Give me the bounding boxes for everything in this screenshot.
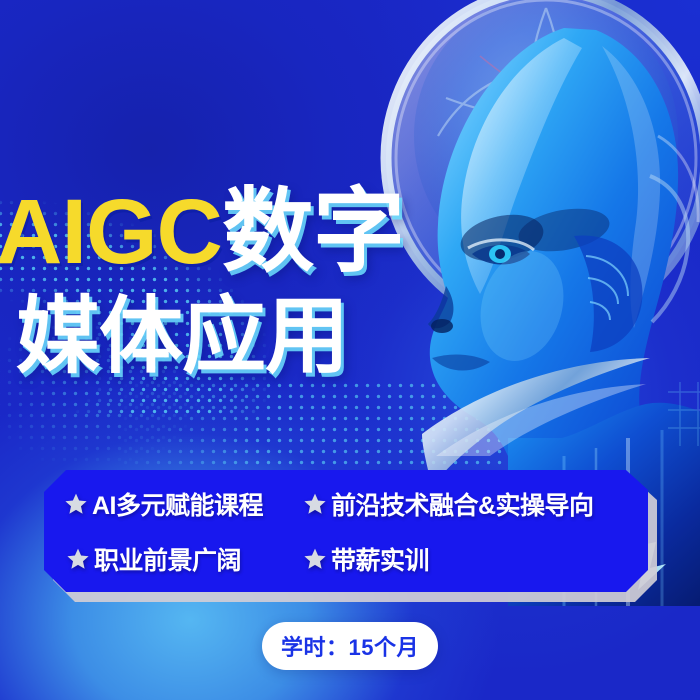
- duration-badge-label: 学时：15个月: [281, 630, 419, 662]
- poster-canvas: AIGC数字 媒体应用 AI多元赋能课程 前沿技术融合&实操导向: [0, 0, 700, 700]
- duration-badge: 学时：15个月: [262, 622, 438, 670]
- headline-line-2: 媒体应用: [16, 294, 520, 378]
- star-icon: [303, 492, 327, 516]
- feature-item-3-label: 职业前景广阔: [94, 541, 241, 577]
- feature-item-1-label: AI多元赋能课程: [92, 486, 263, 522]
- feature-item-4: 带薪实训: [301, 541, 648, 577]
- feature-banner: AI多元赋能课程 前沿技术融合&实操导向 职业前景广阔 带薪实训: [44, 470, 648, 592]
- feature-item-4-label: 带薪实训: [331, 541, 429, 577]
- headline-shuzi: 数字: [222, 186, 404, 278]
- feature-item-3: 职业前景广阔: [64, 541, 301, 577]
- headline-line-1: AIGC数字: [0, 186, 520, 278]
- headline-block: AIGC数字 媒体应用: [0, 186, 520, 378]
- feature-item-2: 前沿技术融合&实操导向: [301, 486, 648, 522]
- star-icon: [303, 547, 327, 571]
- headline-meitiyingyong: 媒体应用: [16, 294, 348, 378]
- star-icon: [66, 547, 90, 571]
- headline-aigc: AIGC: [0, 186, 222, 278]
- feature-item-2-label: 前沿技术融合&实操导向: [331, 486, 594, 522]
- feature-list: AI多元赋能课程 前沿技术融合&实操导向 职业前景广阔 带薪实训: [44, 470, 648, 592]
- feature-item-1: AI多元赋能课程: [64, 486, 301, 522]
- star-icon: [64, 492, 88, 516]
